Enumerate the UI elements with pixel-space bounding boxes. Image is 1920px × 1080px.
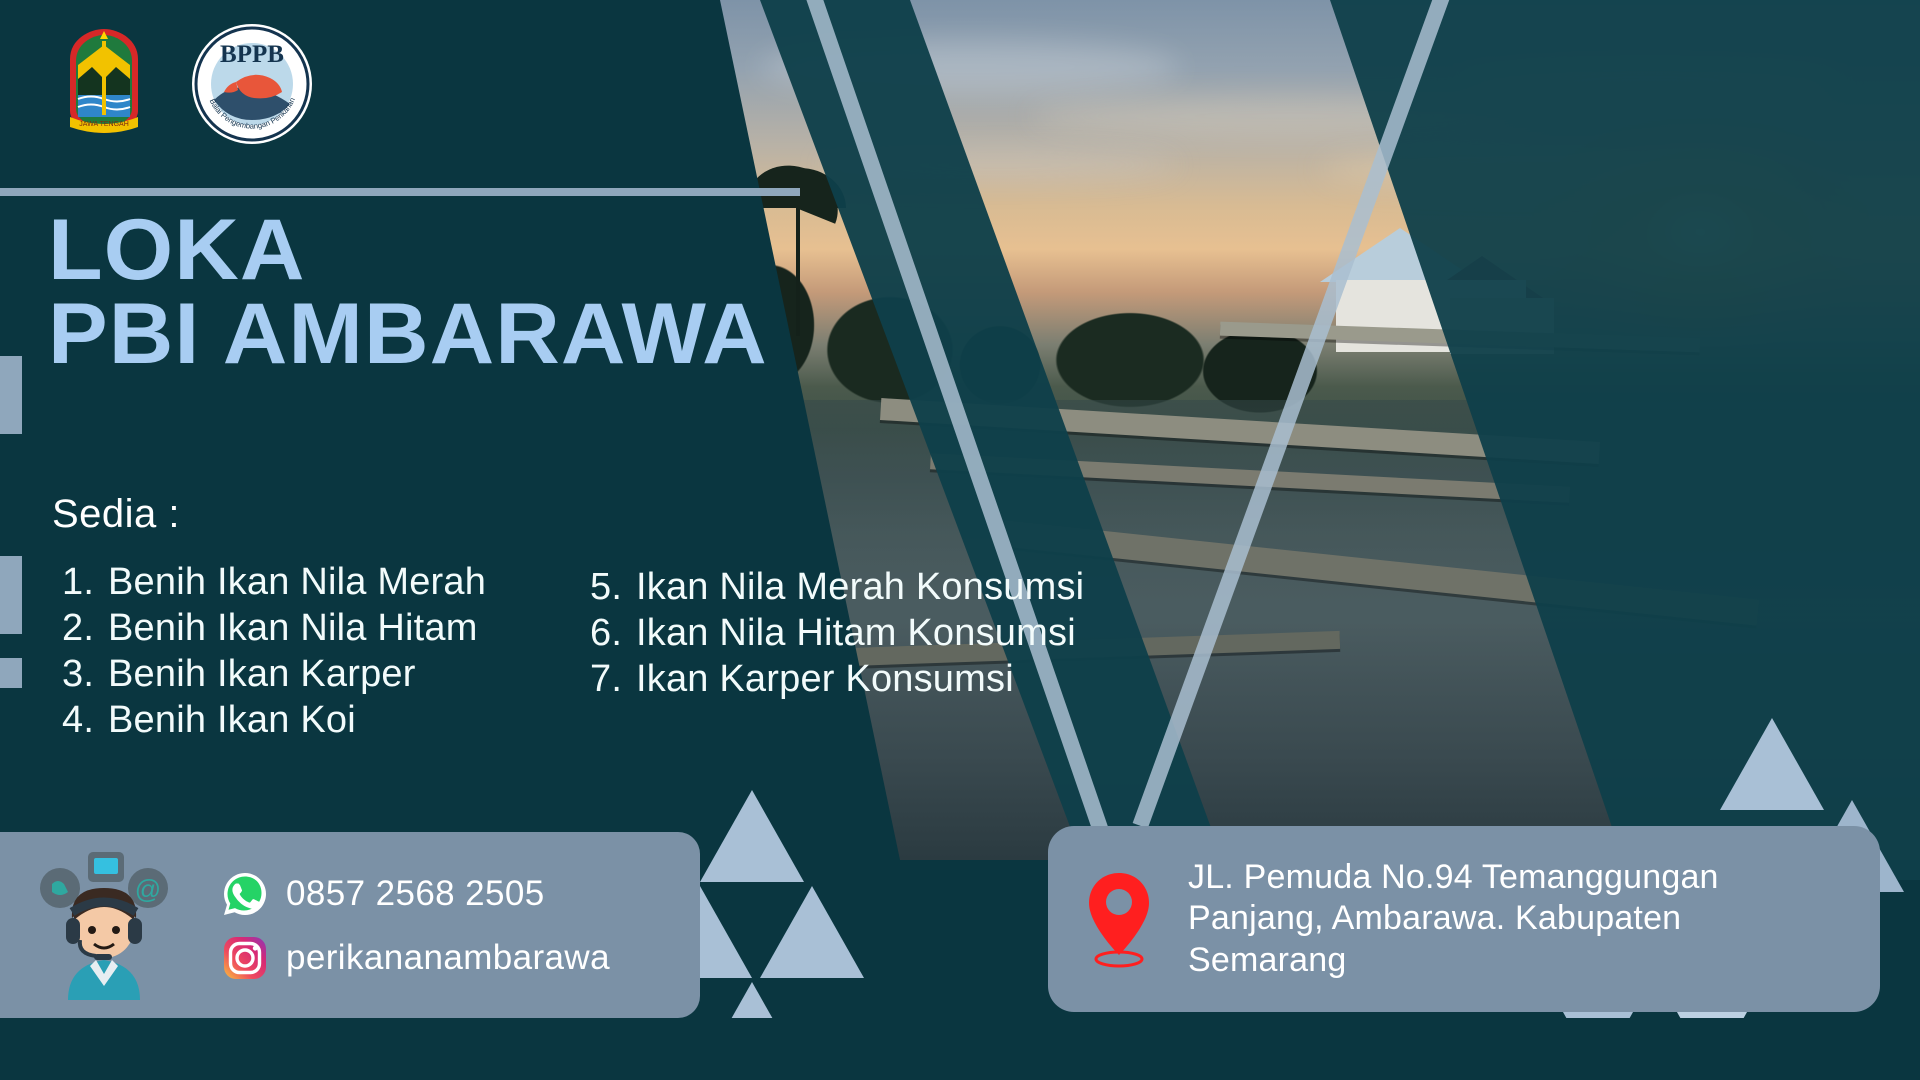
bppb-title: BPPB <box>220 41 284 68</box>
header-divider <box>0 188 800 196</box>
list-item: 4. Benih Ikan Koi <box>62 698 486 744</box>
decorative-triangle <box>760 886 864 978</box>
jawa-tengah-emblem-icon: JAWA TENGAH <box>52 25 156 143</box>
whatsapp-icon <box>222 871 268 917</box>
customer-service-avatar: @ <box>34 840 174 1000</box>
location-pin-icon <box>1076 869 1162 969</box>
address-line-1: JL. Pemuda No.94 Temanggungan <box>1188 857 1719 898</box>
list-item-label: Ikan Nila Merah Konsumsi <box>636 565 1084 611</box>
address-text: JL. Pemuda No.94 Temanggungan Panjang, A… <box>1188 857 1719 981</box>
instagram-row[interactable]: perikananambarawa <box>222 926 610 990</box>
page-title: LOKA PBI AMBARAWA <box>48 208 868 377</box>
list-item: 1. Benih Ikan Nila Merah <box>62 560 486 606</box>
list-item-label: Benih Ikan Nila Hitam <box>108 606 478 652</box>
instagram-icon <box>222 935 268 981</box>
list-item: 7. Ikan Karper Konsumsi <box>590 657 1084 703</box>
whatsapp-row[interactable]: 0857 2568 2505 <box>222 862 610 926</box>
left-accent-tick <box>0 556 22 634</box>
decorative-triangle <box>1720 718 1824 810</box>
left-accent-tick <box>0 356 22 434</box>
list-item-label: Benih Ikan Nila Merah <box>108 560 486 606</box>
list-item-label: Ikan Karper Konsumsi <box>636 657 1014 703</box>
bppb-logo-icon: BPPB Balai Pengembangan Perikanan Budida… <box>190 22 314 146</box>
offer-list-right: 5. Ikan Nila Merah Konsumsi 6. Ikan Nila… <box>590 565 1084 703</box>
address-box: JL. Pemuda No.94 Temanggungan Panjang, A… <box>1048 826 1880 1012</box>
list-item: 3. Benih Ikan Karper <box>62 652 486 698</box>
list-item-number: 3. <box>62 652 100 698</box>
list-item: 6. Ikan Nila Hitam Konsumsi <box>590 611 1084 657</box>
offer-label: Sedia : <box>52 492 180 537</box>
logo-group: JAWA TENGAH BPPB Balai Pengembangan Peri… <box>52 22 314 146</box>
jateng-caption: JAWA TENGAH <box>79 121 129 128</box>
list-item-number: 2. <box>62 606 100 652</box>
svg-text:@: @ <box>135 874 161 904</box>
title-line-1: LOKA <box>48 208 901 292</box>
list-item-number: 1. <box>62 560 100 606</box>
instagram-handle: perikananambarawa <box>286 938 610 978</box>
address-line-3: Semarang <box>1188 940 1719 981</box>
bottom-fill <box>0 1018 1920 1080</box>
list-item-label: Benih Ikan Koi <box>108 698 356 744</box>
left-accent-tick <box>0 658 22 688</box>
decorative-triangle <box>700 790 804 882</box>
title-line-2: PBI AMBARAWA <box>48 292 901 376</box>
whatsapp-number: 0857 2568 2505 <box>286 874 545 914</box>
address-line-2: Panjang, Ambarawa. Kabupaten <box>1188 898 1719 939</box>
contact-details: 0857 2568 2505 perikananambarawa <box>222 862 610 990</box>
list-item-label: Benih Ikan Karper <box>108 652 416 698</box>
list-item: 2. Benih Ikan Nila Hitam <box>62 606 486 652</box>
list-item-number: 7. <box>590 657 628 703</box>
list-item-label: Ikan Nila Hitam Konsumsi <box>636 611 1076 657</box>
list-item-number: 5. <box>590 565 628 611</box>
list-item: 5. Ikan Nila Merah Konsumsi <box>590 565 1084 611</box>
list-item-number: 6. <box>590 611 628 657</box>
list-item-number: 4. <box>62 698 100 744</box>
poster-canvas: JAWA TENGAH BPPB Balai Pengembangan Peri… <box>0 0 1920 1080</box>
offer-list-left: 1. Benih Ikan Nila Merah 2. Benih Ikan N… <box>62 560 486 744</box>
